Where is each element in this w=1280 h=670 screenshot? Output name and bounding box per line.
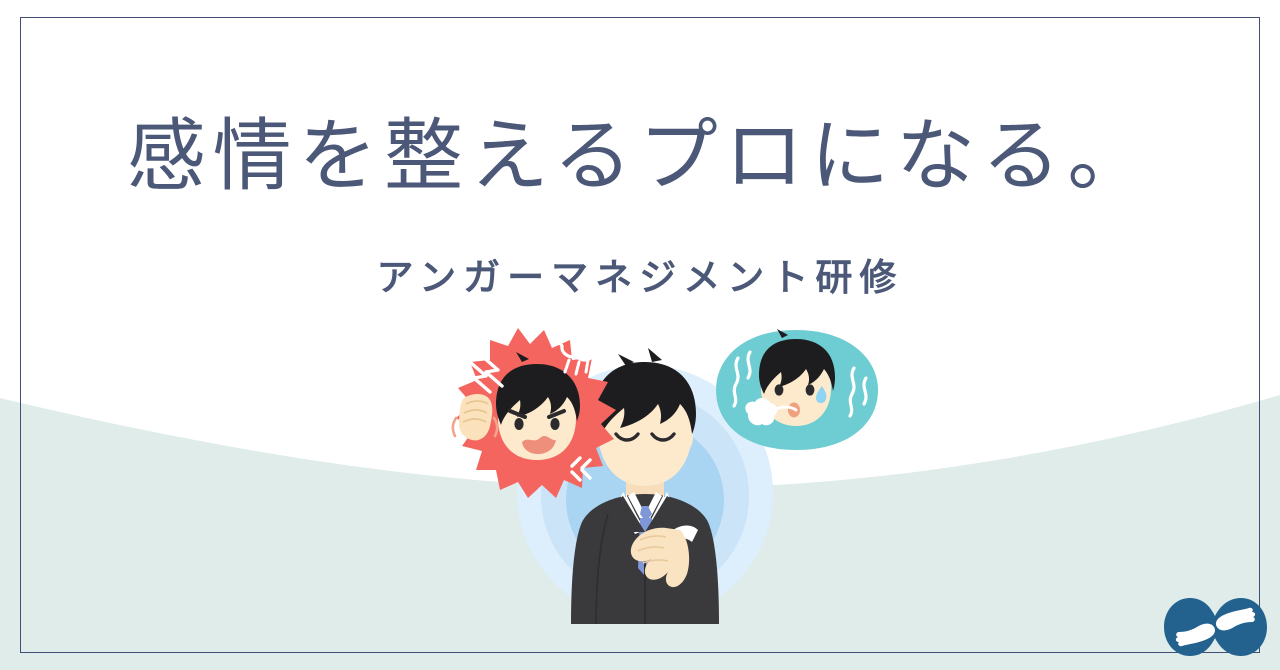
anger-management-illustration <box>430 318 890 648</box>
relieved-bubble <box>716 329 878 450</box>
calm-face <box>594 348 696 486</box>
infinity-hands-logo[interactable] <box>1163 596 1268 658</box>
slide-canvas: 感情を整えるプロになる。 アンガーマネジメント研修 <box>0 0 1280 670</box>
page-subtitle: アンガーマネジメント研修 <box>0 259 1280 296</box>
page-title: 感情を整えるプロになる。 <box>0 116 1280 195</box>
